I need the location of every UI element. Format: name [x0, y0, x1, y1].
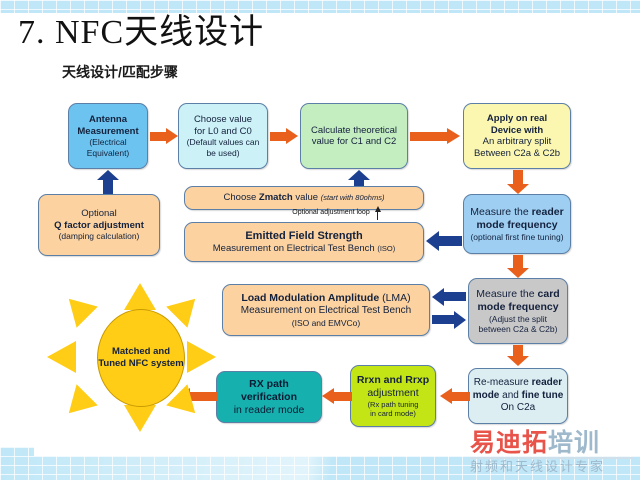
box-line: Measurement on Electrical Test Bench — [241, 305, 411, 318]
box-choose-zmatch[interactable]: Choose Zmatch value (start with 80ohms) — [184, 186, 424, 210]
box-line: Emitted Field Strength — [245, 229, 362, 243]
box-line: (Default values can — [187, 137, 260, 148]
sunburst-matched-tuned-nfc: Matched and Tuned NFC system — [45, 283, 220, 433]
sun-ray-sw — [58, 384, 98, 424]
sun-ray-s — [124, 405, 156, 432]
arrow-measure-card-to-remeasure — [507, 345, 529, 367]
box-line: mode frequency — [476, 219, 557, 232]
sun-line: NFC — [129, 358, 149, 369]
box-line: (Rx path tuning — [368, 400, 419, 410]
slide-canvas: 7. NFC天线设计 天线设计/匹配步骤 Antenna Measurement… — [0, 0, 640, 480]
rmr-text-c: mode — [473, 390, 500, 401]
box-optional-q-factor[interactable]: Optional Q factor adjustment (damping ca… — [38, 194, 160, 256]
page-subtitle: 天线设计/匹配步骤 — [62, 62, 178, 82]
watermark-title-a: 易迪拓 — [470, 429, 548, 457]
box-line: Apply on real — [487, 113, 547, 125]
box-line: Optional — [81, 208, 116, 220]
box-line: mode and fine tune — [473, 390, 564, 403]
box-line: in reader mode — [234, 404, 305, 417]
loop-arrow-icon — [375, 206, 381, 212]
box-line: value for C1 and C2 — [312, 136, 397, 148]
watermark-logo: 易迪拓培训 射频和天线设计专家 — [470, 430, 640, 478]
arrow-qfactor-to-antenna — [97, 170, 119, 194]
box-emitted-field-strength[interactable]: Emitted Field Strength Measurement on El… — [184, 222, 424, 262]
lma-text-a: Load Modulation Amplitude — [241, 292, 382, 304]
mrm-text-a: Measure the — [470, 206, 531, 218]
box-line: mode frequency — [477, 301, 558, 314]
arrow-measure-reader-to-measure-card — [507, 255, 529, 279]
box-line: Calculate theoretical — [311, 125, 397, 137]
watermark-tagline: 射频和天线设计专家 — [470, 459, 640, 475]
decorative-grid-band-top — [0, 0, 640, 13]
arrow-apply-to-measure-reader — [507, 170, 529, 194]
zmatch-text-b: Zmatch — [259, 192, 293, 203]
arrow-rrxn-to-rxpath — [322, 388, 352, 404]
arrow-lma-to-measure-card — [432, 311, 466, 329]
box-line: Re-measure reader — [474, 377, 562, 390]
box-apply-on-real-device[interactable]: Apply on real Device with An arbitrary s… — [463, 103, 571, 169]
arrow-calculate-to-apply — [410, 128, 460, 144]
arrow-antenna-to-choose — [150, 128, 178, 144]
sun-line: system — [151, 358, 184, 369]
zmatch-text-c: value — [293, 192, 321, 203]
box-measure-reader-mode[interactable]: Measure the reader mode frequency (optio… — [463, 194, 571, 254]
box-line: Choose Zmatch value (start with 80ohms) — [224, 192, 385, 204]
box-line: Q factor adjustment — [54, 220, 144, 232]
efs-text-a: Measurement on Electrical Test Bench — [213, 243, 378, 254]
arrow-choose-to-calculate — [270, 128, 298, 144]
box-line: Choose value — [194, 114, 252, 126]
arrow-remeasure-to-rrxn — [440, 388, 470, 404]
lma-text-b: (LMA) — [382, 292, 411, 304]
box-antenna-measurement[interactable]: Antenna Measurement (Electrical Equivale… — [68, 103, 148, 169]
box-rrxn-rrxp-adjustment[interactable]: Rrxn and Rrxp adjustment (Rx path tuning… — [350, 365, 436, 427]
box-measure-card-mode[interactable]: Measure the card mode frequency (Adjust … — [468, 278, 568, 344]
sun-line: Matched — [112, 346, 151, 357]
rmr-text-d: and — [499, 390, 521, 401]
sun-ray-nw — [58, 288, 98, 328]
box-line: (optional first fine tuning) — [470, 232, 563, 243]
zmatch-text-d: (start with 80ohms) — [321, 193, 385, 202]
efs-text-b: (ISO) — [377, 244, 395, 253]
sun-ray-e — [187, 341, 216, 373]
watermark-title-b: 培训 — [548, 429, 600, 457]
box-line: Load Modulation Amplitude (LMA) — [241, 292, 410, 305]
page-title: 7. NFC天线设计 — [18, 14, 264, 52]
box-line: (ISO and EMVCo) — [292, 318, 361, 329]
box-line: be used) — [206, 148, 239, 159]
box-load-modulation-amplitude[interactable]: Load Modulation Amplitude (LMA) Measurem… — [222, 284, 430, 336]
sun-ray-ne — [166, 288, 206, 328]
mrm-text-b: reader — [532, 206, 564, 218]
sun-core-label: Matched and Tuned NFC system — [97, 309, 185, 407]
zmatch-text-a: Choose — [224, 192, 259, 203]
box-line: An arbitrary split — [483, 136, 552, 148]
box-calculate-c1-c2[interactable]: Calculate theoretical value for C1 and C… — [300, 103, 408, 169]
mcm-text-b: card — [538, 288, 560, 300]
mcm-text-a: Measure the — [476, 288, 537, 300]
box-line: adjustment — [367, 387, 418, 400]
optional-adjustment-loop-label: Optional adjustment loop — [236, 209, 426, 217]
rmr-text-e: fine tune — [522, 390, 564, 401]
box-rx-path-verification[interactable]: RX path verification in reader mode — [216, 371, 322, 423]
box-line: Rrxn and Rrxp — [357, 374, 429, 387]
box-line: for L0 and C0 — [194, 126, 252, 138]
box-line: in card mode) — [370, 409, 416, 419]
box-line: (Adjust the split — [489, 314, 547, 325]
box-line: Antenna — [89, 114, 127, 126]
box-line: (Electrical — [89, 137, 126, 148]
arrow-measure-reader-to-emitted-field — [426, 231, 462, 251]
rmr-text-a: Re-measure — [474, 377, 532, 388]
box-line: Measurement on Electrical Test Bench (IS… — [213, 243, 396, 255]
box-line: Equivalent) — [87, 148, 130, 159]
box-line: Between C2a & C2b — [474, 148, 560, 160]
box-line: Measure the card — [476, 288, 559, 301]
sun-ray-n — [124, 283, 156, 310]
box-line: Measurement — [77, 126, 138, 138]
rmr-text-b: reader — [532, 377, 563, 388]
box-line: between C2a & C2b) — [479, 324, 558, 335]
arrow-measure-card-to-lma — [432, 288, 466, 306]
box-line: Device with — [491, 125, 543, 137]
box-choose-l0-c0[interactable]: Choose value for L0 and C0 (Default valu… — [178, 103, 268, 169]
sun-ray-w — [47, 341, 76, 373]
watermark-title: 易迪拓培训 — [470, 430, 640, 456]
box-line: RX path verification — [220, 378, 318, 404]
box-line: On C2a — [501, 402, 535, 415]
box-line: (damping calculation) — [59, 231, 140, 242]
loop-arrow-stem — [377, 212, 378, 220]
box-line: Measure the reader — [470, 206, 563, 219]
box-remeasure-reader[interactable]: Re-measure reader mode and fine tune On … — [468, 368, 568, 424]
